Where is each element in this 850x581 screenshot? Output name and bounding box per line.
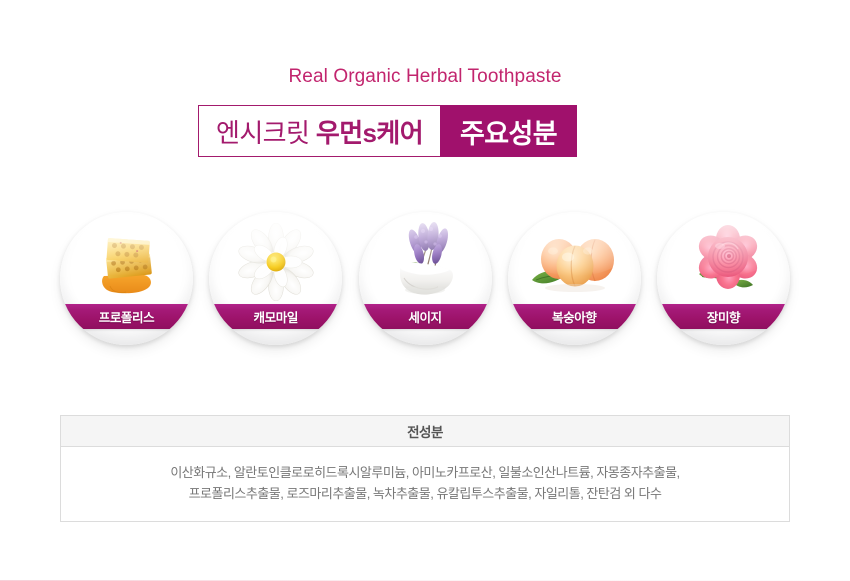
- ingredient-band: 복숭아향: [508, 304, 641, 329]
- ingredient-label: 캐모마일: [254, 307, 298, 326]
- brand-name-bold: 우먼s케어: [316, 118, 423, 148]
- ingredient-band: 프로폴리스: [60, 304, 193, 329]
- chamomile-flower-icon: [209, 212, 342, 312]
- ingredient-circle-chamomile[interactable]: 캐모마일: [209, 212, 342, 345]
- sage-mortar-icon: [359, 212, 492, 312]
- table-header-label: 전성분: [407, 421, 443, 441]
- ingredient-label: 세이지: [408, 307, 441, 326]
- ingredient-label: 장미향: [707, 307, 740, 326]
- brand-name-light: 엔시크릿: [216, 118, 316, 148]
- ingredient-circle-propolis[interactable]: 프로폴리스: [60, 212, 193, 345]
- ingredient-label: 프로폴리스: [99, 307, 155, 326]
- full-ingredients-table: 전성분 이산화규소, 알란토인클로로히드록시알루미늄, 아미노카프로산, 일불소…: [60, 415, 790, 522]
- section-title-box: 주요성분: [440, 105, 577, 157]
- ingredients-line-1: 이산화규소, 알란토인클로로히드록시알루미늄, 아미노카프로산, 일불소인산나트…: [87, 462, 763, 483]
- brand-name-box: 엔시크릿 우먼s케어: [198, 105, 440, 157]
- ingredient-band: 캐모마일: [209, 304, 342, 329]
- peach-icon: [508, 212, 641, 312]
- page-tagline: Real Organic Herbal Toothpaste: [0, 66, 850, 88]
- product-detail-page: Real Organic Herbal Toothpaste 엔시크릿 우먼s케…: [0, 0, 850, 581]
- ingredients-line-2: 프로폴리스추출물, 로즈마리추출물, 녹차추출물, 유칼립투스추출물, 자일리톨…: [87, 483, 763, 504]
- ingredient-band: 세이지: [359, 304, 492, 329]
- rose-icon: [657, 212, 790, 312]
- ingredient-circle-peach[interactable]: 복숭아향: [508, 212, 641, 345]
- section-title: 주요성분: [460, 112, 557, 151]
- ingredient-circle-sage[interactable]: 세이지: [359, 212, 492, 345]
- ingredient-circle-rose[interactable]: 장미향: [657, 212, 790, 345]
- ingredient-band: 장미향: [657, 304, 790, 329]
- brand-name: 엔시크릿 우먼s케어: [216, 113, 423, 150]
- table-header-row: 전성분: [61, 416, 789, 447]
- table-body: 이산화규소, 알란토인클로로히드록시알루미늄, 아미노카프로산, 일불소인산나트…: [61, 447, 789, 521]
- ingredient-circle-list: 프로폴리스: [60, 212, 790, 346]
- ingredient-label: 복숭아향: [552, 307, 596, 326]
- section-title-band: 엔시크릿 우먼s케어 주요성분: [198, 105, 577, 157]
- honeycomb-icon: [60, 212, 193, 312]
